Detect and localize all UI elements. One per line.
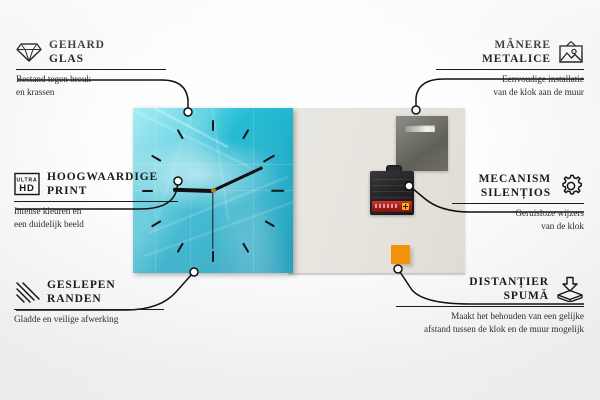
feature-manere-metalice[interactable]: MÂNERE METALICE Eenvoudige installatie v… [436,38,584,98]
feature-title-row: MECANISM SILENȚIOS [452,172,584,200]
diamond-icon [16,41,42,63]
mechanism-body [370,171,414,215]
feature-subtitle: Bestand tegen breuk en krassen [16,73,166,98]
feature-geslepen-randen[interactable]: GESLEPEN RANDEN Gladde en veilige afwerk… [14,278,164,326]
feature-title-row: ultra HD HOOGWAARDIGE PRINT [14,170,178,198]
feature-mecanism-silentios[interactable]: MECANISM SILENȚIOS Geruisloze wijzers va… [452,172,584,232]
feature-title-row: MÂNERE METALICE [436,38,584,66]
battery-plus-terminal [402,203,409,210]
battery [372,201,412,212]
feature-hoogwaardige-print[interactable]: ultra HD HOOGWAARDIGE PRINT Intense kleu… [14,170,178,230]
feature-subtitle: Geruisloze wijzers van de klok [452,207,584,232]
feature-title: MÂNERE METALICE [482,38,551,66]
feature-subtitle: Gladde en veilige afwerking [14,313,164,325]
hanger-slot [405,125,435,132]
feature-title: GESLEPEN RANDEN [47,278,116,306]
feature-divider [16,69,166,70]
feature-title-row: DISTANȚIER SPUMĂ [396,275,584,303]
beveled-edges-icon [14,281,40,303]
picture-hanger-icon [558,40,584,64]
feature-title: GEHARD GLAS [49,38,105,66]
feature-subtitle: Intense kleuren en een duidelijk beeld [14,205,178,230]
feature-divider [452,203,584,204]
feature-divider [396,306,584,307]
feature-divider [436,69,584,70]
feature-title: HOOGWAARDIGE PRINT [47,170,158,198]
foam-spacer-part [391,245,410,264]
foam-spacer-icon [556,276,584,302]
product-image [133,108,465,273]
clock-center-hub [211,188,216,193]
feature-distantier-spuma[interactable]: DISTANȚIER SPUMĂ Maakt het behouden van … [396,275,584,335]
metal-hanger-part [396,116,448,171]
ultra-hd-icon: ultra HD [14,172,40,196]
clock-mechanism-part [370,171,414,215]
infographic-canvas: GEHARD GLAS Bestand tegen breuk en krass… [0,0,600,400]
gear-icon [558,173,584,199]
feature-divider [14,201,178,202]
feature-title-row: GEHARD GLAS [16,38,166,66]
feature-divider [14,309,164,310]
feature-title: DISTANȚIER SPUMĂ [396,275,549,303]
feature-subtitle: Maakt het behouden van een gelijke afsta… [396,310,584,335]
feature-gehard-glas[interactable]: GEHARD GLAS Bestand tegen breuk en krass… [16,38,166,98]
svg-text:HD: HD [19,183,35,194]
feature-title-row: GESLEPEN RANDEN [14,278,164,306]
feature-title: MECANISM SILENȚIOS [479,172,551,200]
feature-subtitle: Eenvoudige installatie van de klok aan d… [436,73,584,98]
